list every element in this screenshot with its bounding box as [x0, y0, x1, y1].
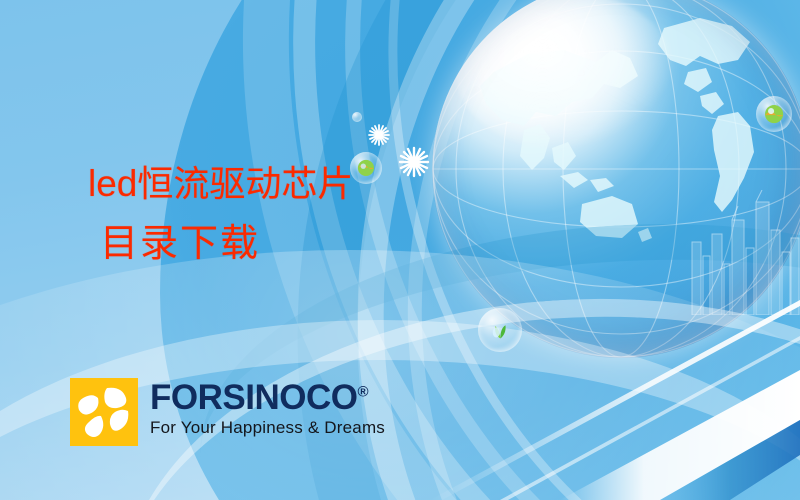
- brand-tagline: For Your Happiness & Dreams: [150, 418, 385, 438]
- brand-word: FORSINOCO: [150, 378, 357, 417]
- poster-canvas: led恒流驱动芯片 目录下载 FORSINOCO® For Your Happ: [0, 0, 800, 500]
- four-petal-flower-logo-icon: [70, 378, 138, 446]
- company-logo: FORSINOCO® For Your Happiness & Dreams: [70, 378, 385, 446]
- city-skyline-silhouette: [690, 190, 800, 315]
- bubble-with-leaf-motif: [478, 308, 522, 352]
- bubble-inner-globe-icon: [357, 159, 375, 177]
- headline-line-2: 目录下载: [100, 222, 353, 267]
- headline-latin-word: led: [88, 163, 137, 204]
- bubble-with-globe-motif: [756, 96, 792, 132]
- headline-line-1: led恒流驱动芯片: [88, 162, 353, 206]
- bubble-inner-leaf-icon: [488, 318, 513, 343]
- logo-text-block: FORSINOCO® For Your Happiness & Dreams: [150, 378, 385, 438]
- bubble-with-globe-motif: [350, 152, 382, 184]
- bubble-small: [352, 112, 362, 122]
- registered-trademark-icon: ®: [357, 383, 368, 400]
- sparkle-starburst: [398, 146, 430, 178]
- brand-name: FORSINOCO®: [150, 380, 385, 415]
- headline-cjk-words: 恒流驱动芯片: [137, 164, 353, 204]
- bubble-inner-globe-icon: [764, 104, 784, 124]
- sparkle-starburst: [368, 124, 390, 146]
- headline-block: led恒流驱动芯片 目录下载: [88, 162, 353, 266]
